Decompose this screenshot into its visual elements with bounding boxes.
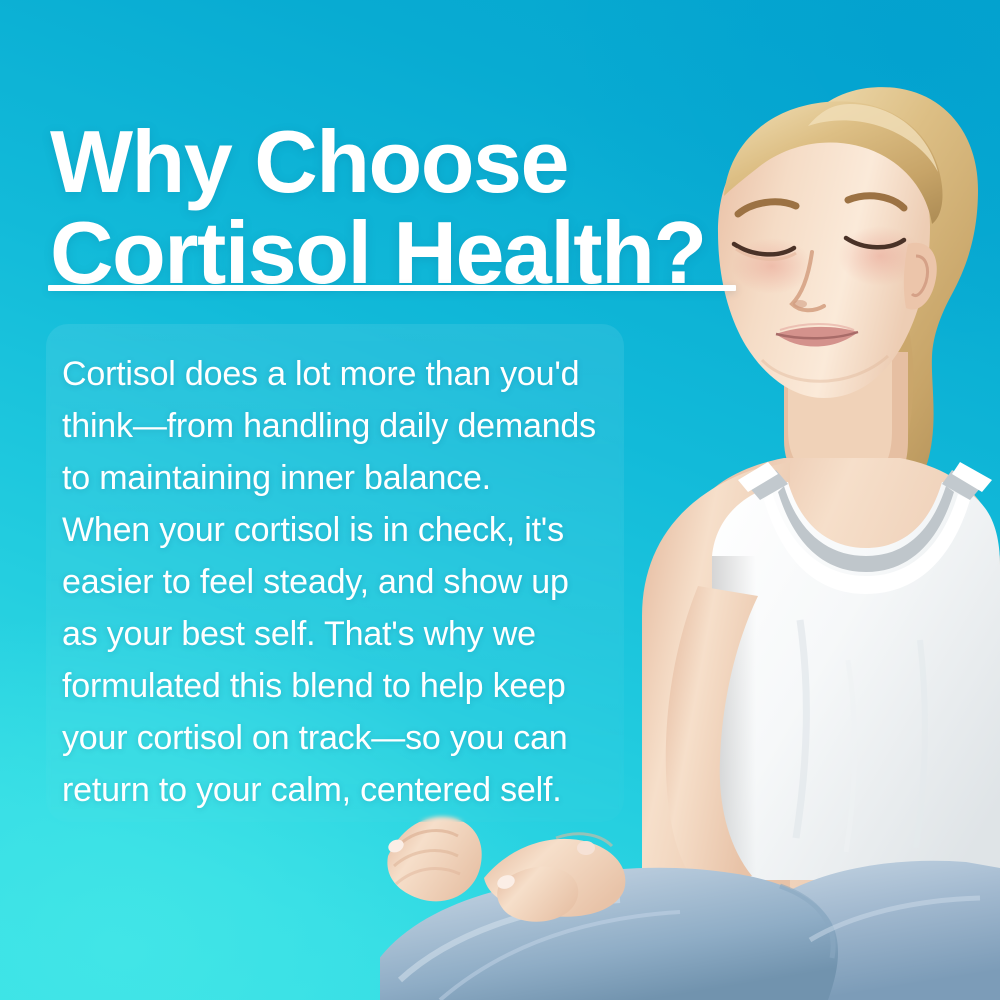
body-copy: Cortisol does a lot more than you'd thin… <box>62 348 622 816</box>
body-copy-line: return to your calm, centered self. <box>62 764 622 816</box>
body-copy-line: easier to feel steady, and show up <box>62 556 622 608</box>
body-copy-line: as your best self. That's why we <box>62 608 622 660</box>
page-title: Why Choose Cortisol Health? <box>50 117 790 298</box>
body-copy-line: to maintaining inner balance. <box>62 452 622 504</box>
body-copy-line: your cortisol on track—so you can <box>62 712 622 764</box>
body-copy-line: Cortisol does a lot more than you'd <box>62 348 622 400</box>
body-copy-line: think—from handling daily demands <box>62 400 622 452</box>
promo-banner: Why Choose Cortisol Health? Cortisol doe… <box>0 0 1000 1000</box>
body-copy-line: formulated this blend to help keep <box>62 660 622 712</box>
body-copy-line: When your cortisol is in check, it's <box>62 504 622 556</box>
title-divider <box>48 285 736 291</box>
page-title-line-1: Why Choose <box>50 117 790 208</box>
